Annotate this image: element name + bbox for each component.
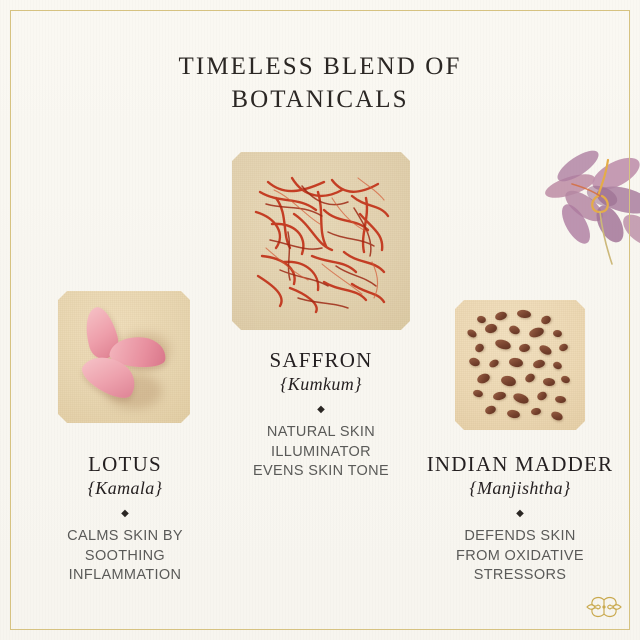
saffron-name: SAFFRON bbox=[190, 348, 452, 372]
lotus-name: LOTUS bbox=[0, 452, 250, 476]
lotus-info-block: LOTUS {Kamala} ◆ CALMS SKIN BY SOOTHING … bbox=[0, 452, 250, 586]
poster-canvas: TIMELESS BLEND OF BOTANICALS bbox=[0, 0, 640, 640]
lotus-description: CALMS SKIN BY SOOTHING INFLAMMATION bbox=[0, 527, 250, 586]
saffron-photo bbox=[232, 152, 410, 330]
lotus-image-card bbox=[58, 291, 190, 423]
saffron-threads-graphic bbox=[232, 152, 410, 330]
page-title: TIMELESS BLEND OF BOTANICALS bbox=[0, 50, 640, 116]
lotus-photo bbox=[58, 291, 190, 423]
page-title-line-2: BOTANICALS bbox=[0, 83, 640, 116]
madder-info-block: INDIAN MADDER {Manjishtha} ◆ DEFENDS SKI… bbox=[400, 452, 640, 586]
madder-description-line: STRESSORS bbox=[400, 566, 640, 586]
madder-image-card bbox=[455, 300, 585, 430]
madder-photo bbox=[455, 300, 585, 430]
lotus-description-line: INFLAMMATION bbox=[0, 566, 250, 586]
page-title-line-1: TIMELESS BLEND OF bbox=[0, 50, 640, 83]
saffron-image-card bbox=[232, 152, 410, 330]
saffron-crocus-illustration bbox=[532, 138, 640, 268]
diamond-separator-icon: ◆ bbox=[190, 405, 452, 415]
diamond-separator-icon: ◆ bbox=[400, 509, 640, 519]
saffron-sanskrit-name: {Kumkum} bbox=[190, 373, 452, 396]
lotus-description-line: CALMS SKIN BY bbox=[0, 527, 250, 547]
madder-description-line: FROM OXIDATIVE bbox=[400, 547, 640, 567]
lotus-sanskrit-name: {Kamala} bbox=[0, 477, 250, 500]
madder-name: INDIAN MADDER bbox=[400, 452, 640, 476]
diamond-separator-icon: ◆ bbox=[0, 509, 250, 519]
madder-description: DEFENDS SKIN FROM OXIDATIVE STRESSORS bbox=[400, 527, 640, 586]
madder-sanskrit-name: {Manjishtha} bbox=[400, 477, 640, 500]
madder-description-line: DEFENDS SKIN bbox=[400, 527, 640, 547]
gold-filigree-ornament-icon bbox=[585, 594, 623, 620]
saffron-description-line: NATURAL SKIN bbox=[190, 423, 452, 443]
lotus-description-line: SOOTHING bbox=[0, 547, 250, 567]
